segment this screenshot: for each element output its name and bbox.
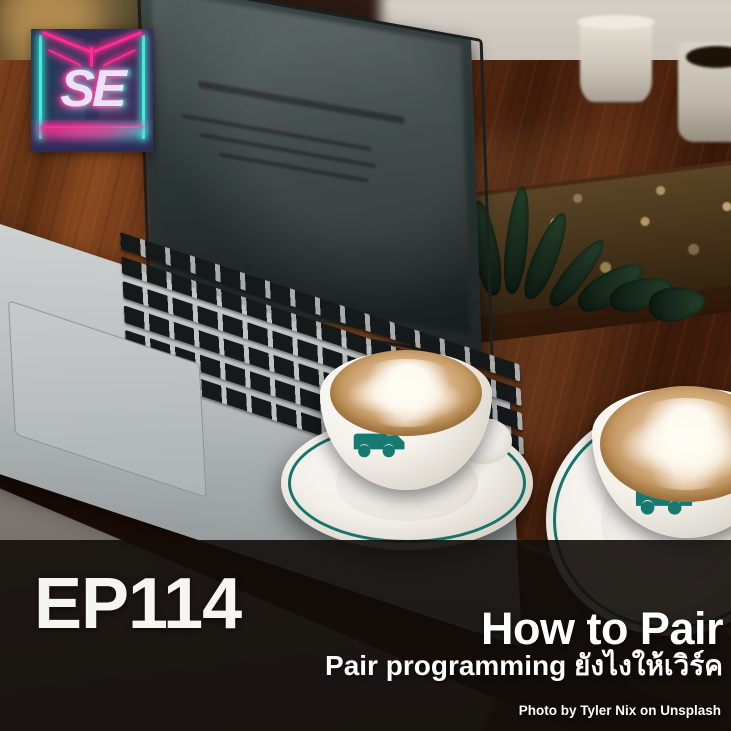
- logo-text: SE: [31, 59, 153, 119]
- episode-number: EP114: [34, 568, 241, 640]
- rosetta-pattern: [345, 359, 467, 428]
- rosetta-pattern: [617, 398, 731, 491]
- photo-credit: Photo by Tyler Nix on Unsplash: [519, 703, 721, 718]
- se-logo-badge: SE: [31, 29, 153, 152]
- logo-floor-glow: [38, 122, 145, 142]
- episode-subtitle: Pair programming ยังไงให้เวิร์ค: [325, 650, 723, 682]
- ceramic-mug: [678, 42, 731, 142]
- episode-cover: EP114 How to Pair Pair programming ยังไง…: [0, 0, 731, 731]
- latte-art-main: [330, 350, 482, 436]
- paper-cup: [580, 20, 652, 102]
- episode-title: How to Pair: [481, 606, 723, 651]
